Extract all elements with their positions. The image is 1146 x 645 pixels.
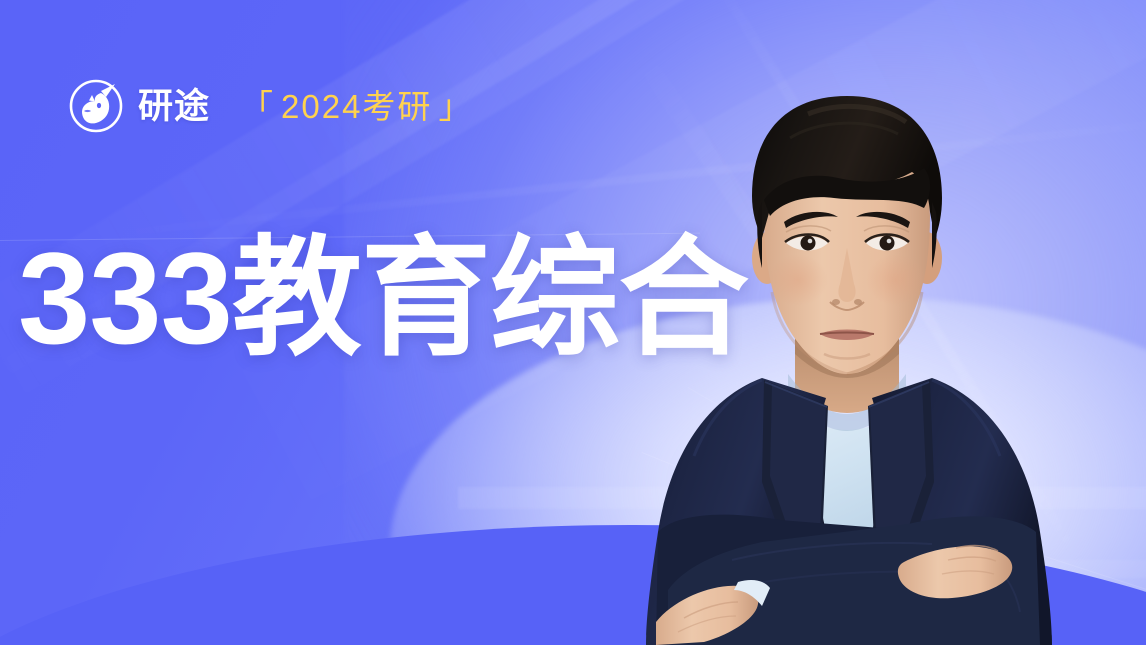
unicorn-head-badge-icon-svg — [68, 78, 124, 134]
tagline-close-bracket: 」 — [438, 90, 473, 123]
tagline: 「 2024考研 」 — [240, 90, 473, 123]
course-promo-banner: 研途 「 2024考研 」 333教育综合 — [0, 0, 1146, 645]
brand-name: 研途 — [138, 89, 210, 124]
tagline-text: 2024考研 — [281, 90, 432, 123]
tagline-open-bracket: 「 — [240, 90, 275, 123]
brand-header: 研途 「 2024考研 」 — [68, 78, 473, 134]
page-title: 333教育综合 — [18, 228, 748, 368]
unicorn-head-badge-icon[interactable] — [68, 78, 124, 134]
